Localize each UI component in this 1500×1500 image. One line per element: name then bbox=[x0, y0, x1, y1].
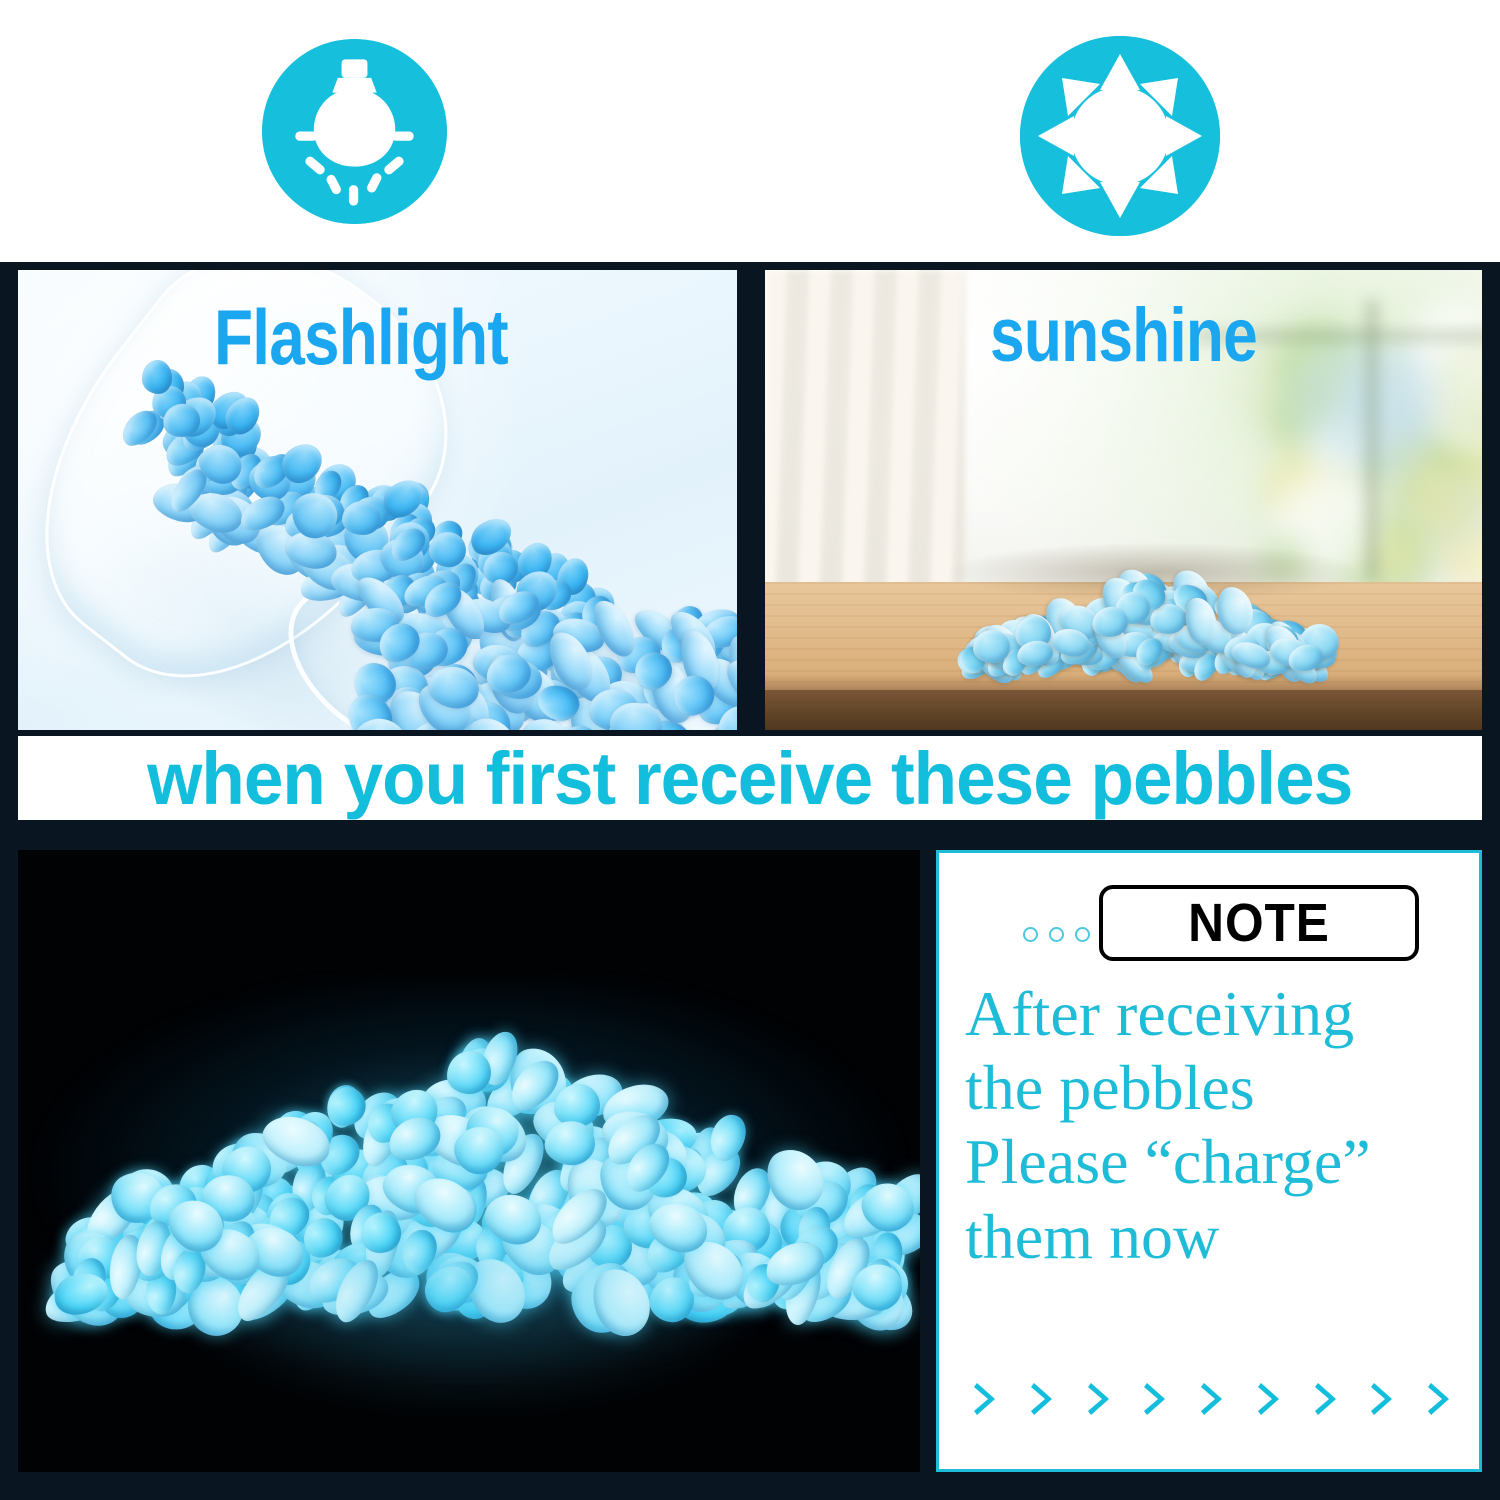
chevron-right-icon bbox=[1087, 1381, 1113, 1417]
note-dot bbox=[1049, 927, 1064, 942]
note-dots bbox=[1023, 927, 1090, 942]
note-panel: NOTE After receiving the pebbles Please … bbox=[936, 850, 1482, 1472]
note-line-2: the pebbles bbox=[965, 1051, 1465, 1125]
chevron-right-icon bbox=[973, 1381, 999, 1417]
pebble bbox=[141, 360, 172, 395]
photo-glow-in-dark bbox=[18, 850, 920, 1472]
curtain bbox=[765, 270, 965, 600]
headline-band: when you first receive these pebbles bbox=[18, 736, 1482, 820]
bokeh-blob bbox=[1342, 345, 1440, 443]
photo-band-top: Flashlight sunshine bbox=[18, 270, 1482, 730]
chevron-right-icon bbox=[1314, 1381, 1340, 1417]
photo-sunshine: sunshine bbox=[765, 270, 1482, 730]
chevron-right-icon bbox=[1030, 1381, 1056, 1417]
bottom-band: NOTE After receiving the pebbles Please … bbox=[18, 850, 1482, 1472]
note-header: NOTE bbox=[939, 875, 1479, 961]
note-body: After receiving the pebbles Please “char… bbox=[965, 977, 1465, 1274]
photo-label-sunshine: sunshine bbox=[990, 292, 1257, 379]
chevron-right-icon bbox=[1143, 1381, 1169, 1417]
chevron-right-icon bbox=[1370, 1381, 1396, 1417]
dark-frame: Flashlight sunshine when you first recei… bbox=[0, 262, 1500, 1500]
photo-flashlight: Flashlight bbox=[18, 270, 737, 730]
glow-reflection bbox=[138, 1250, 798, 1420]
note-dot bbox=[1023, 927, 1038, 942]
photo-label-flashlight: Flashlight bbox=[214, 292, 508, 383]
note-line-4: them now bbox=[965, 1200, 1465, 1274]
note-line-3: Please “charge” bbox=[965, 1125, 1465, 1199]
pebble bbox=[342, 501, 382, 536]
note-badge-label: NOTE bbox=[1188, 892, 1330, 954]
chevron-right-icon bbox=[1427, 1381, 1453, 1417]
infographic-page: Flashlight sunshine when you first recei… bbox=[0, 0, 1500, 1500]
window-frame bbox=[1365, 300, 1379, 580]
chevron-right-icon bbox=[1257, 1381, 1283, 1417]
headline-text: when you first receive these pebbles bbox=[147, 736, 1352, 821]
note-badge: NOTE bbox=[1099, 885, 1419, 961]
note-line-1: After receiving bbox=[965, 977, 1465, 1051]
icon-row bbox=[0, 0, 1500, 262]
chevron-right-icon bbox=[1200, 1381, 1226, 1417]
lightbulb-icon bbox=[262, 39, 447, 224]
sun-icon bbox=[1020, 36, 1220, 236]
plank-edge bbox=[765, 690, 1482, 730]
chevron-row bbox=[973, 1381, 1453, 1417]
note-dot bbox=[1075, 927, 1090, 942]
